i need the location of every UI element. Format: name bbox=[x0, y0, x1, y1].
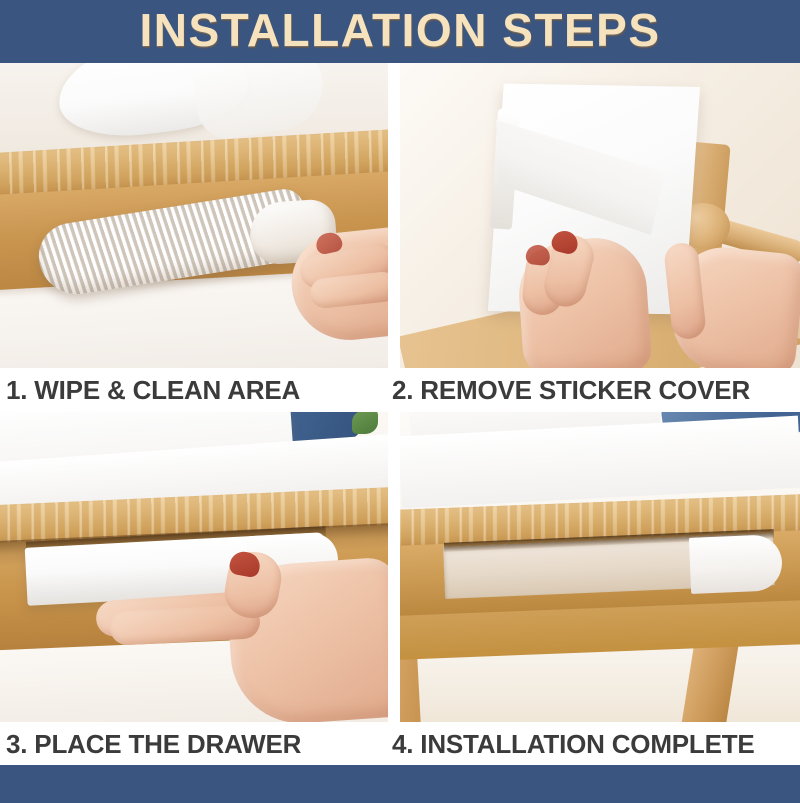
step-3-caption: 3. PLACE THE DRAWER bbox=[6, 722, 396, 766]
step-3-photo bbox=[0, 412, 388, 722]
step-2-caption: 2. REMOVE STICKER COVER bbox=[392, 368, 800, 412]
step-1-photo bbox=[0, 63, 388, 368]
step-4-scene bbox=[400, 412, 800, 722]
step-2-scene bbox=[400, 63, 800, 368]
step-4-photo bbox=[400, 412, 800, 722]
page-title: INSTALLATION STEPS bbox=[0, 0, 800, 63]
step-1-caption: 1. WIPE & CLEAN AREA bbox=[6, 368, 396, 412]
floor bbox=[400, 660, 800, 722]
drawer-end-cap bbox=[689, 534, 783, 594]
installation-steps-infographic: INSTALLATION STEPS bbox=[0, 0, 800, 803]
step-4-caption: 4. INSTALLATION COMPLETE bbox=[392, 722, 800, 766]
step-2-photo bbox=[400, 63, 800, 368]
step-3-scene bbox=[0, 412, 388, 722]
footer-bar bbox=[0, 765, 800, 803]
step-1-scene bbox=[0, 63, 388, 368]
